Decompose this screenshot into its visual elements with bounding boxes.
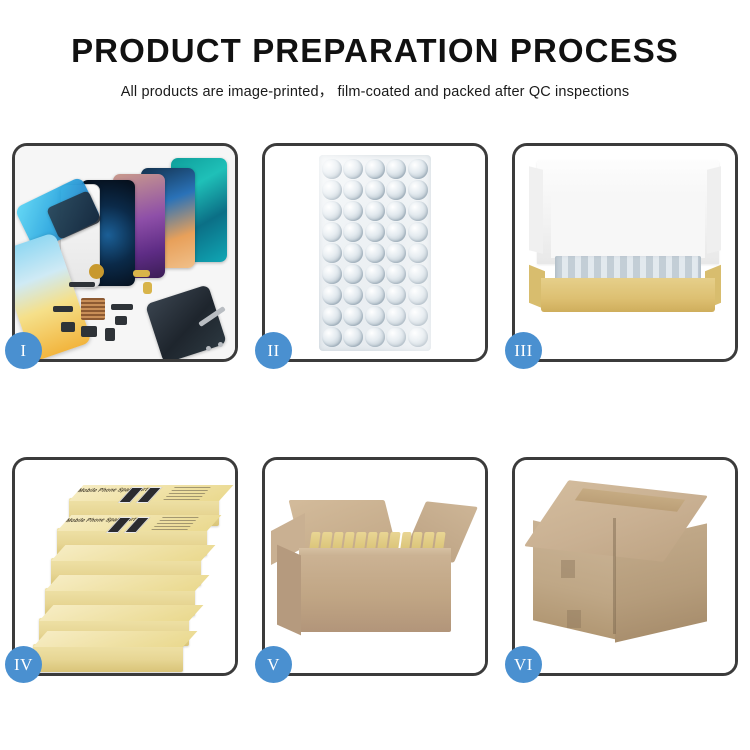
box-stack: Mobile Phone Spare Parts Mobile Phone Sp… <box>21 476 231 664</box>
camera-ring-part <box>89 264 104 279</box>
step-badge-5: V <box>255 646 292 683</box>
bubble-wrap-sheet <box>319 155 431 351</box>
flex-cable-part-2 <box>143 282 152 294</box>
step-image-bubble-wrap <box>265 146 485 359</box>
flex-cable-part-4 <box>111 304 133 310</box>
mailer-interior <box>551 192 705 258</box>
page-title: PRODUCT PREPARATION PROCESS <box>0 34 750 69</box>
bracket-part <box>61 322 75 332</box>
page-subtitle: All products are image-printed， film-coa… <box>0 80 750 101</box>
step-image-box-stack: Mobile Phone Spare Parts Mobile Phone Sp… <box>15 460 235 673</box>
step-badge-1: I <box>5 332 42 369</box>
header: PRODUCT PREPARATION PROCESS All products… <box>0 0 750 101</box>
step-image-carton-sealed <box>515 460 735 673</box>
button-part <box>115 316 127 325</box>
spare-parts-box <box>33 644 183 672</box>
step-image-carton-filling <box>265 460 485 673</box>
step-badge-6: VI <box>505 646 542 683</box>
carton-tab-lower <box>567 610 581 628</box>
screw-part-2 <box>206 346 211 351</box>
step-badge-3: III <box>505 332 542 369</box>
carton-side-face <box>277 545 301 636</box>
step-panel-6: VI <box>512 457 738 676</box>
flex-cable-part-3 <box>53 306 73 312</box>
step-image-products <box>15 146 235 359</box>
flex-cable-part-1 <box>133 270 150 277</box>
step-badge-4: IV <box>5 646 42 683</box>
screw-part-1 <box>218 342 223 347</box>
box-top-face <box>33 631 197 647</box>
step-panel-2: II <box>262 143 488 362</box>
step-image-inner-box <box>515 146 735 359</box>
step-panel-5: V <box>262 457 488 676</box>
carton-corner-seam <box>613 518 616 634</box>
mailer-lid-flap-right <box>707 166 721 253</box>
camera-module-part <box>81 326 97 337</box>
speaker-part <box>69 282 95 287</box>
step-panel-1: I <box>12 143 238 362</box>
carton-body <box>299 556 451 632</box>
box-top-face <box>39 605 203 621</box>
steps-grid: I II <box>12 143 738 676</box>
mailer-front-panel <box>541 278 715 312</box>
mailer-lid-flap-left <box>529 166 543 253</box>
phone-chassis-icon <box>145 284 227 359</box>
carton-tab-upper <box>561 560 575 578</box>
box-top-face <box>45 575 209 591</box>
box-top-face <box>51 545 215 561</box>
step-panel-4: Mobile Phone Spare Parts Mobile Phone Sp… <box>12 457 238 676</box>
sim-tray-part <box>105 328 115 341</box>
product-preparation-infographic: PRODUCT PREPARATION PROCESS All products… <box>0 0 750 750</box>
step-panel-3: III <box>512 143 738 362</box>
step-badge-2: II <box>255 332 292 369</box>
connector-grid-part <box>81 298 105 320</box>
